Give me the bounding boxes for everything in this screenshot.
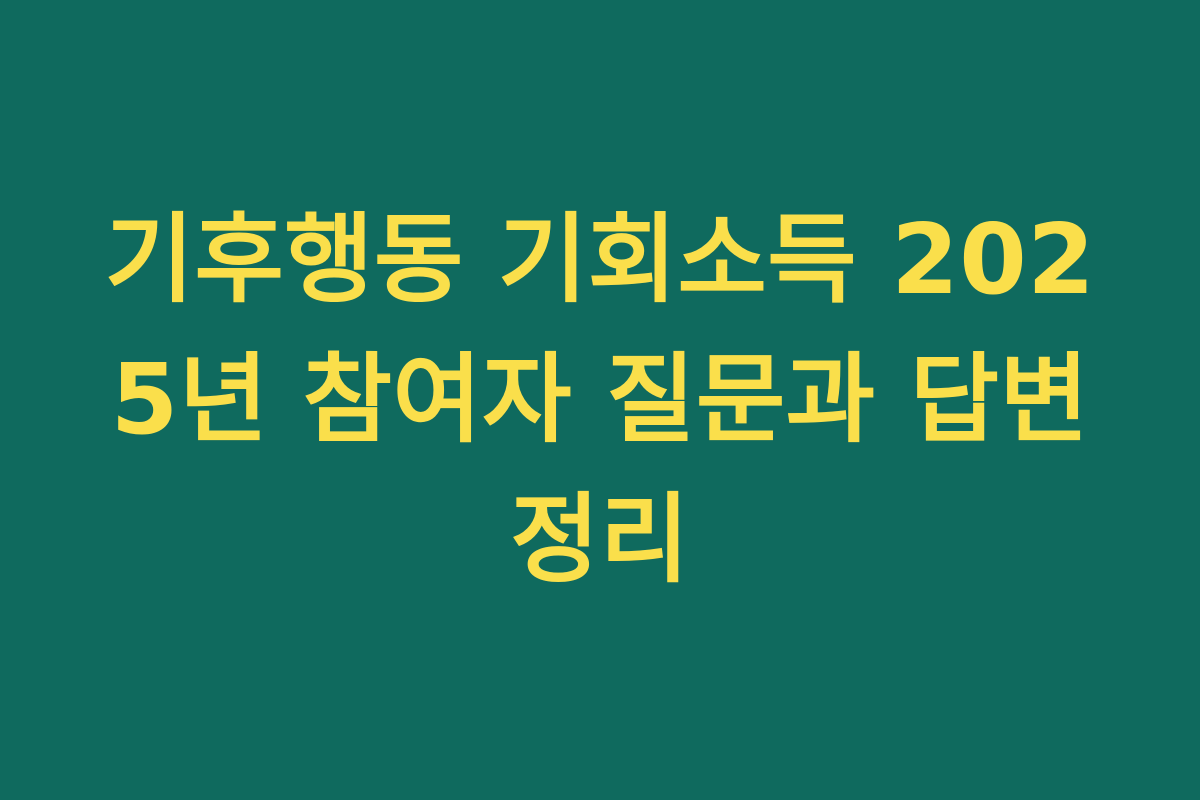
title-line-1: 기후행동 기회소득 202 [95, 190, 1105, 330]
title-line-3: 정리 [95, 470, 1105, 610]
title-line-2: 5년 참여자 질문과 답변 [95, 330, 1105, 470]
poster-canvas: 기후행동 기회소득 202 5년 참여자 질문과 답변 정리 [0, 0, 1200, 800]
poster-title: 기후행동 기회소득 202 5년 참여자 질문과 답변 정리 [95, 190, 1105, 609]
